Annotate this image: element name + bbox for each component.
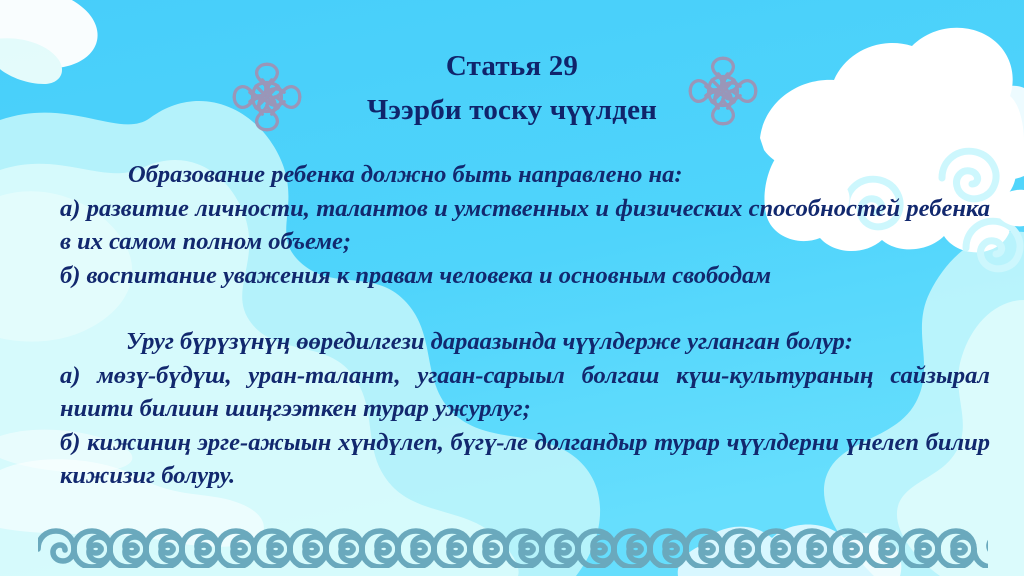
russian-lead-paragraph: Образование ребенка должно быть направле… (60, 158, 990, 192)
russian-item-a: а) развитие личности, талантов и умствен… (60, 192, 990, 259)
article-body: Образование ребенка должно быть направле… (60, 158, 990, 493)
russian-item-b: б) воспитание уважения к правам человека… (60, 259, 990, 293)
tuvan-lead-paragraph: Уруг бүрүзүнүң өөредилгези дараазында чү… (60, 325, 990, 359)
slide-canvas: Статья 29 Чээрби тоску чүүлден Образован… (0, 0, 1024, 576)
paragraph-spacer (60, 292, 990, 325)
cloud-scroll-wave-border (38, 528, 988, 568)
tuvan-item-a: а) мөзү-бүдүш, уран-талант, угаан-сарыыл… (60, 359, 990, 426)
article-title-heading: Чээрби тоску чүүлден (0, 88, 1024, 132)
article-number-heading: Статья 29 (0, 44, 1024, 88)
slide-title-block: Статья 29 Чээрби тоску чүүлден (0, 44, 1024, 132)
tuvan-item-b: б) кижиниң эрге-ажыын хүндүлеп, бүгү-ле … (60, 426, 990, 493)
